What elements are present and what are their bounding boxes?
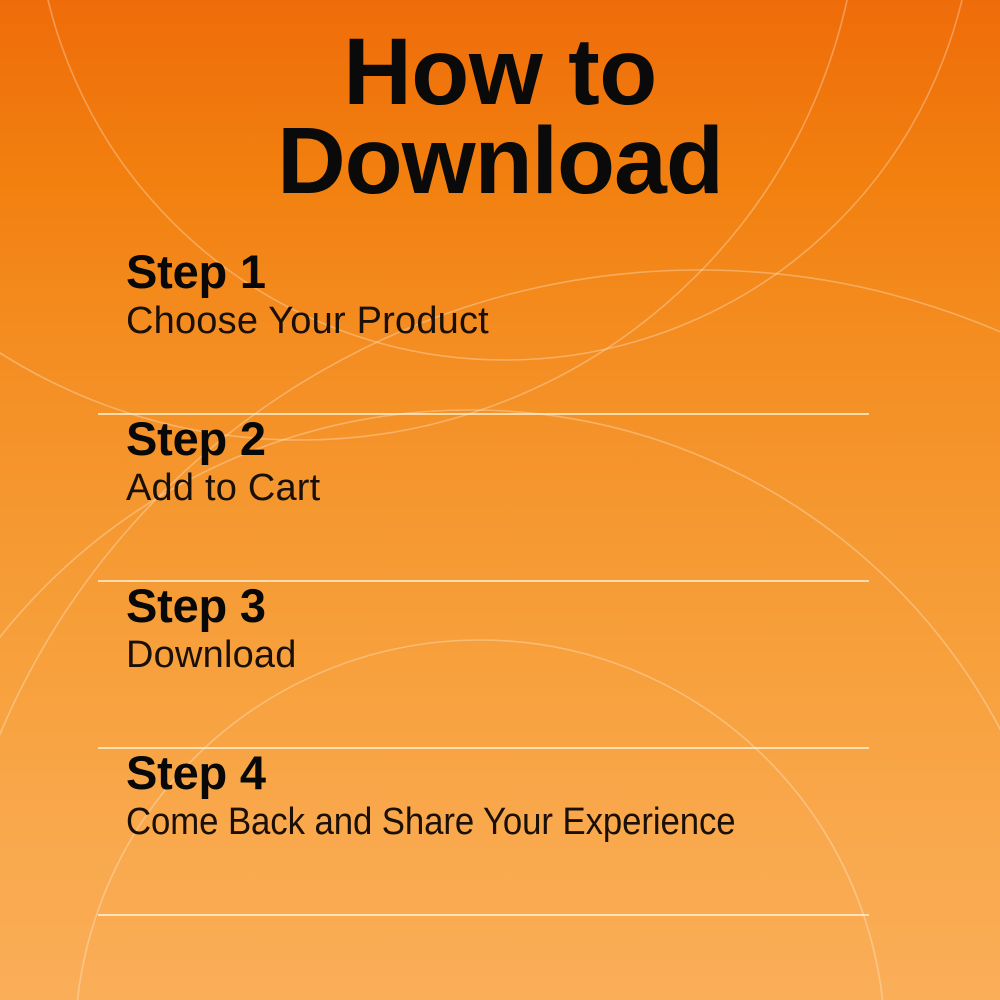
- step-3-description: Download: [126, 630, 869, 680]
- step-4-description: Come Back and Share Your Experience: [126, 797, 806, 847]
- step-1-description: Choose Your Product: [126, 296, 869, 346]
- step-divider-4: [98, 914, 869, 916]
- step-item-3: Step 3 Download: [98, 582, 869, 749]
- step-item-4: Step 4 Come Back and Share Your Experien…: [98, 749, 869, 916]
- step-4-label: Step 4: [126, 749, 869, 797]
- page-title-line-1: How to: [0, 28, 1000, 117]
- step-2-description: Add to Cart: [126, 463, 869, 513]
- steps-list: Step 1 Choose Your Product Step 2 Add to…: [98, 248, 869, 916]
- step-item-1: Step 1 Choose Your Product: [98, 248, 869, 415]
- how-to-download-poster: How to Download Step 1 Choose Your Produ…: [0, 0, 1000, 1000]
- step-item-2: Step 2 Add to Cart: [98, 415, 869, 582]
- page-title-line-2: Download: [0, 117, 1000, 206]
- step-3-label: Step 3: [126, 582, 869, 630]
- step-1-label: Step 1: [126, 248, 869, 296]
- step-2-label: Step 2: [126, 415, 869, 463]
- page-title: How to Download: [0, 28, 1000, 207]
